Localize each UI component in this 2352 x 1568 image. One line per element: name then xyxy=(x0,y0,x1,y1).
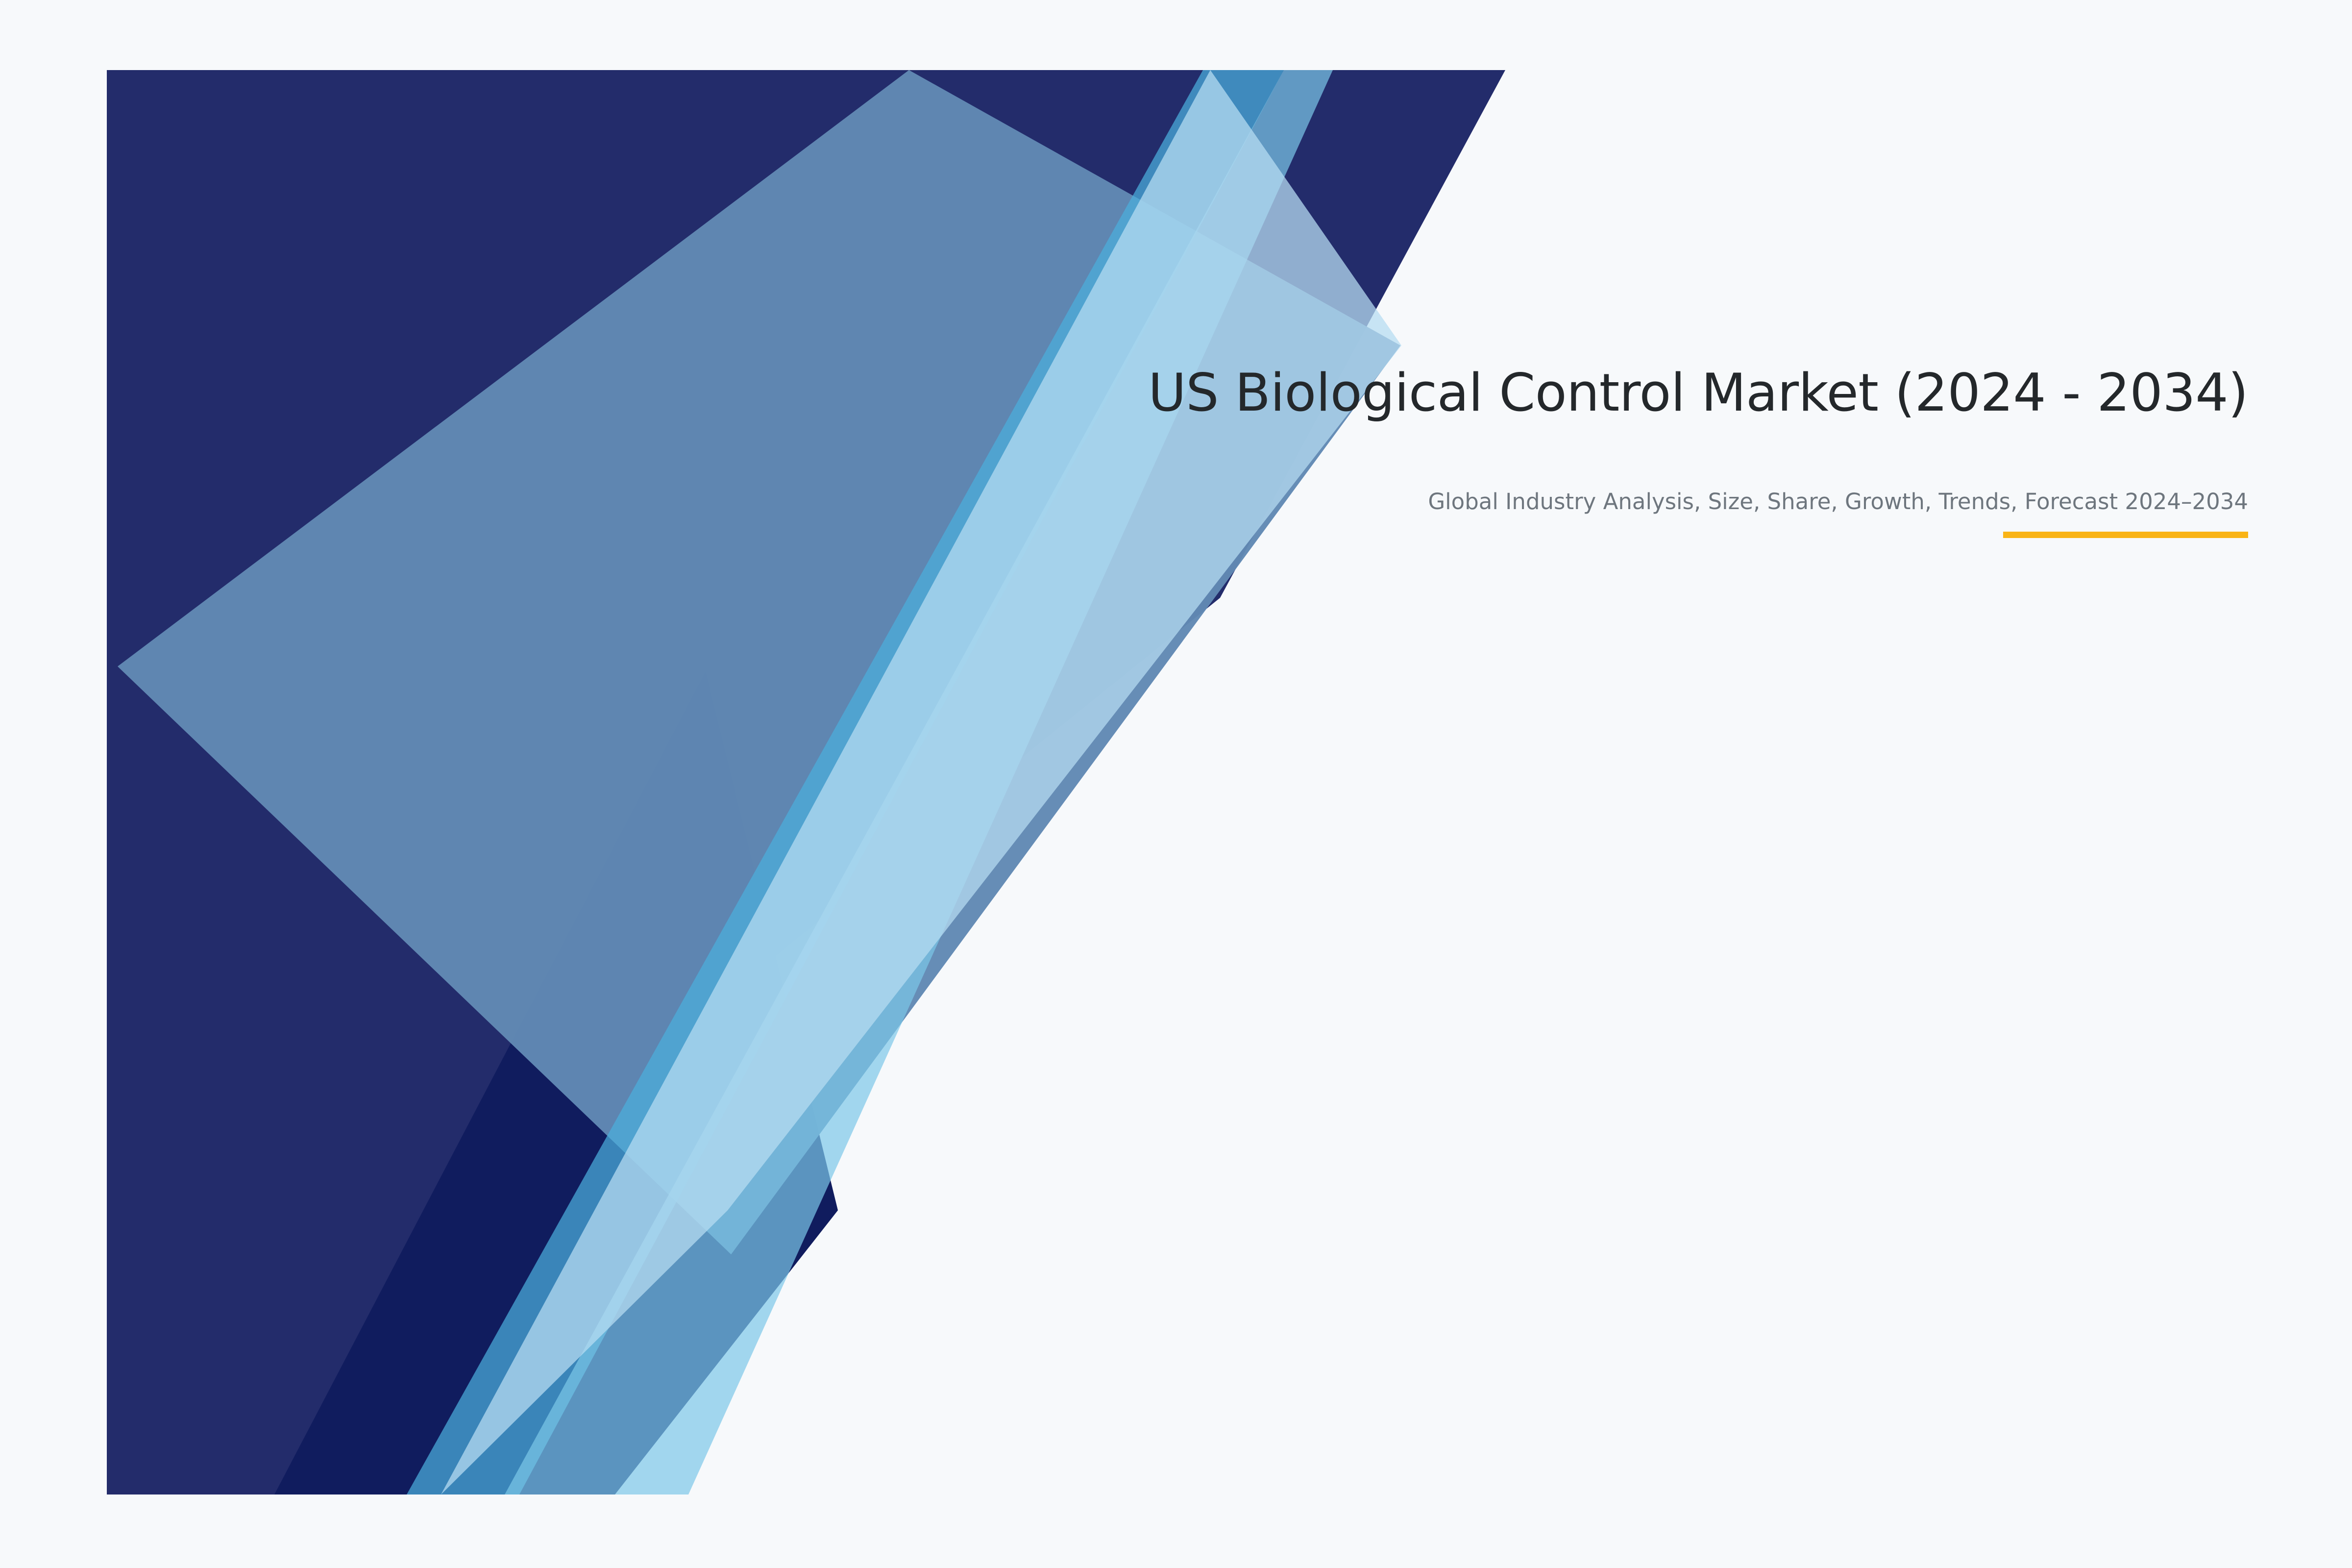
sky-diagonal-band xyxy=(407,70,1284,1494)
abstract-polygon-artwork xyxy=(0,0,2352,1568)
pale-blue-sweep xyxy=(441,70,1401,1494)
cyan-backdrop-triangle xyxy=(107,70,1505,1494)
title-wrapper: US Biological Control Market (2024 - 203… xyxy=(857,363,2248,423)
navy-lower-column xyxy=(107,490,715,1494)
page-title: US Biological Control Market (2024 - 203… xyxy=(857,363,2248,423)
presentation-slide: US Biological Control Market (2024 - 203… xyxy=(0,0,2352,1568)
navy-upper-wedge xyxy=(107,70,1505,1494)
title-accent-underline xyxy=(2003,532,2248,538)
slate-blue-quadrilateral xyxy=(118,70,1400,1254)
navy-dark-spire xyxy=(274,671,838,1494)
artwork-svg xyxy=(0,0,2352,1568)
sky-light-band xyxy=(505,70,1333,1494)
page-subtitle: Global Industry Analysis, Size, Share, G… xyxy=(857,486,2248,517)
slide-text-block: US Biological Control Market (2024 - 203… xyxy=(857,363,2248,517)
